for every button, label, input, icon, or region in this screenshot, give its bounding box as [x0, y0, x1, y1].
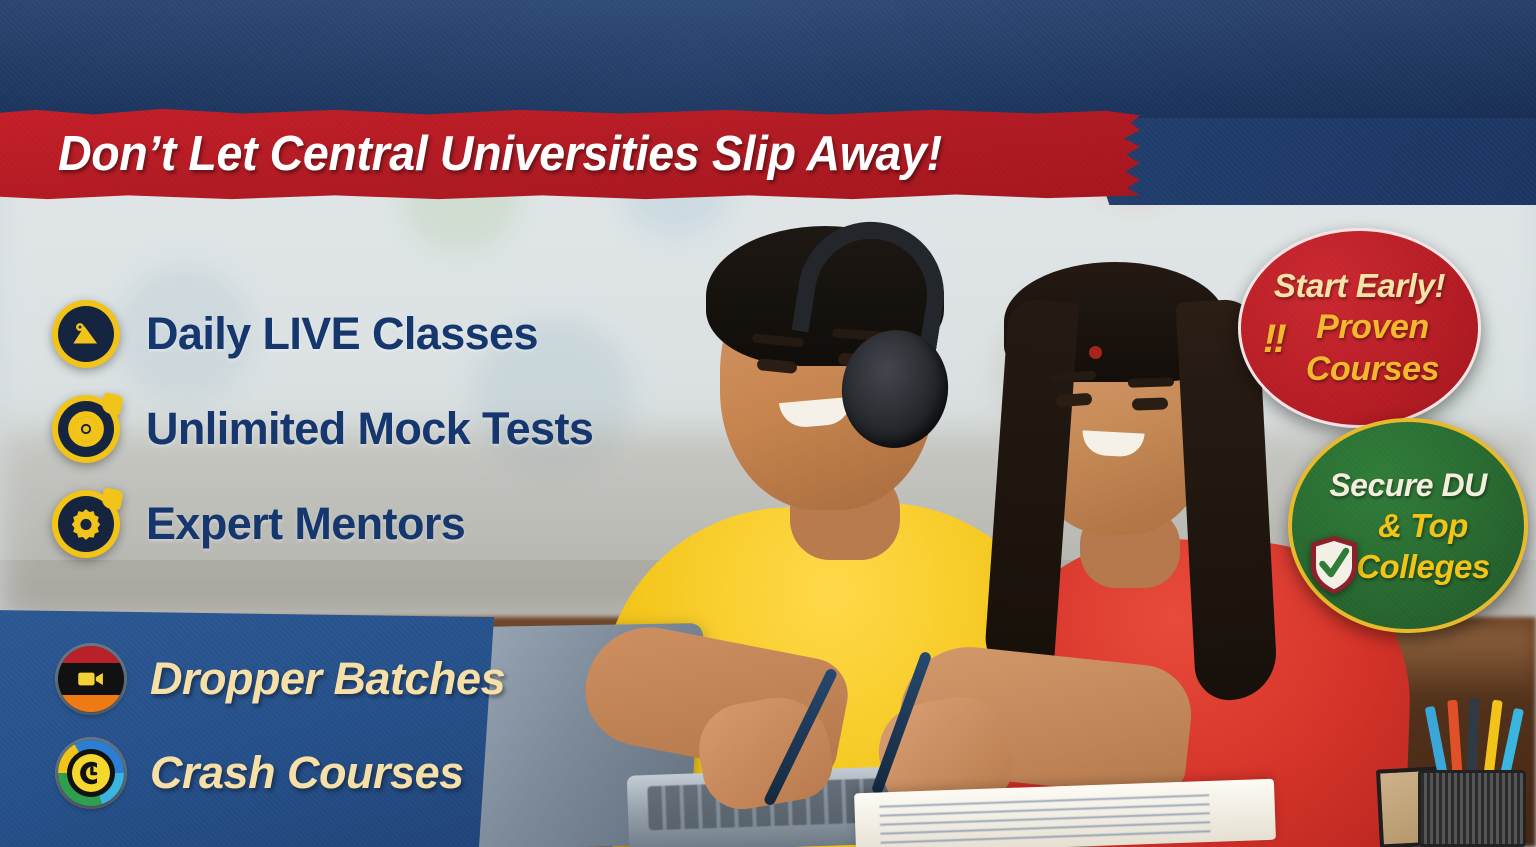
secondary-feature-list: Dropper Batches Crash Courses — [58, 632, 505, 820]
student-female-eye-right — [1132, 397, 1168, 410]
feature-label: Unlimited Mock Tests — [146, 403, 593, 455]
badge-green-line2: & Top — [1378, 505, 1468, 546]
badge-green-line3: Colleges — [1356, 546, 1490, 587]
badge-green-line1: Secure DU — [1329, 465, 1486, 505]
cuet-coaching-banner: CUET Coaching After 2026 Boards Don’t Le… — [0, 0, 1536, 847]
clock-phone-icon — [58, 740, 124, 806]
primary-feature-list: Daily LIVE Classes Unlimited Mock — [52, 286, 593, 571]
feature-item-unlimited-mock-tests[interactable]: Unlimited Mock Tests — [52, 381, 593, 476]
feature-item-dropper-batches[interactable]: Dropper Batches — [58, 632, 505, 726]
feature-label: Expert Mentors — [146, 498, 465, 550]
pencil-holder — [1418, 770, 1526, 847]
badge-red-line3: Courses — [1306, 348, 1439, 390]
image-photo-icon — [52, 300, 120, 368]
student-female-brow-right — [1128, 377, 1174, 388]
feature-label: Dropper Batches — [150, 653, 505, 705]
page-subtitle: Don’t Let Central Universities Slip Away… — [58, 118, 942, 190]
student-female-eye-left — [1056, 393, 1093, 407]
badge-start-early[interactable]: !! Start Early! Proven Courses — [1238, 228, 1481, 428]
feature-item-daily-live-classes[interactable]: Daily LIVE Classes — [52, 286, 593, 381]
feature-label: Daily LIVE Classes — [146, 308, 538, 360]
header-bar — [0, 0, 1536, 118]
feature-item-expert-mentors[interactable]: Expert Mentors — [52, 476, 593, 571]
badge-secure-du[interactable]: Secure DU & Top Colleges — [1288, 418, 1528, 633]
shield-check-icon — [1308, 534, 1360, 596]
feature-item-crash-courses[interactable]: Crash Courses — [58, 726, 505, 820]
feature-label: Crash Courses — [150, 747, 464, 799]
badge-red-line1: Start Early! — [1274, 266, 1445, 306]
double-exclamation-icon: !! — [1263, 319, 1284, 359]
badge-red-line2: Proven — [1316, 306, 1429, 348]
student-female-bindi — [1089, 346, 1102, 359]
target-wheel-icon — [52, 395, 120, 463]
gear-cog-icon — [52, 490, 120, 558]
video-camera-icon — [58, 646, 124, 712]
